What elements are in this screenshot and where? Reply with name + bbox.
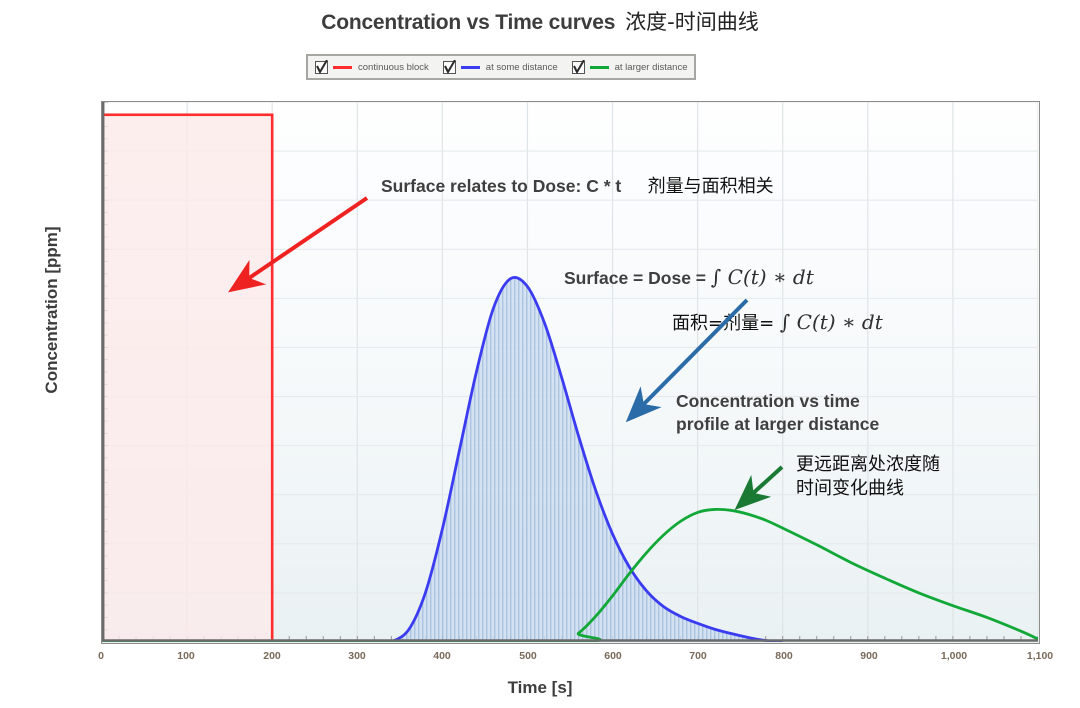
checkbox-checked-icon[interactable]: [315, 61, 328, 74]
legend-swatch-blue: [461, 66, 480, 69]
annotation-integral-en-math: ∫ C(t) ∗ dt: [711, 265, 814, 289]
chart-title-zh: 浓度-时间曲线: [625, 10, 759, 34]
annotation-integral-zh: 面积=剂量= ∫ C(t) ∗ dt: [672, 309, 883, 335]
legend-label-at-some-distance: at some distance: [486, 62, 558, 73]
x-tick-label: 0: [71, 650, 131, 662]
annotation-larger-distance-zh-line2: 时间变化曲线: [796, 477, 1046, 501]
x-tick-label: 700: [668, 650, 728, 662]
x-tick-label: 900: [839, 650, 899, 662]
legend-swatch-red: [333, 66, 352, 69]
annotation-integral-en: Surface = Dose = ∫ C(t) ∗ dt: [564, 265, 814, 289]
annotation-integral-en-prefix: Surface = Dose =: [564, 268, 711, 288]
annotation-integral-zh-prefix: 面积=剂量=: [672, 313, 780, 334]
x-tick-label: 1,100: [1010, 650, 1070, 662]
x-tick-label: 200: [242, 650, 302, 662]
plot-area: Surface relates to Dose: C * t 剂量与面积相关 S…: [101, 101, 1040, 644]
legend-label-continuous-block: continuous block: [358, 62, 429, 73]
chart-title: Concentration vs Time curves浓度-时间曲线: [0, 6, 1080, 36]
chart-title-en: Concentration vs Time curves: [321, 11, 615, 34]
annotation-integral-zh-math: ∫ C(t) ∗ dt: [780, 310, 883, 334]
annotation-dose-surface-en: Surface relates to Dose: C * t: [381, 176, 621, 196]
y-axis-label: Concentration [ppm]: [42, 200, 62, 420]
checkbox-checked-icon[interactable]: [443, 61, 456, 74]
annotation-dose-surface-zh: 剂量与面积相关: [648, 176, 774, 197]
x-tick-label: 400: [412, 650, 472, 662]
chart-legend[interactable]: continuous block at some distance at lar…: [306, 54, 696, 80]
annotation-larger-distance-en-line1: Concentration vs time: [676, 390, 946, 413]
x-tick-label: 100: [156, 650, 216, 662]
legend-entry-at-some-distance[interactable]: at some distance: [443, 61, 558, 74]
x-tick-label: 800: [754, 650, 814, 662]
annotation-larger-distance-zh: 更远距离处浓度随 时间变化曲线: [796, 453, 1046, 502]
series-continuous-block: [102, 115, 272, 642]
checkbox-checked-icon[interactable]: [572, 61, 585, 74]
x-tick-label: 500: [498, 650, 558, 662]
x-tick-label: 600: [583, 650, 643, 662]
x-axis-label: Time [s]: [0, 678, 1080, 698]
annotation-dose-surface: Surface relates to Dose: C * t 剂量与面积相关: [381, 172, 774, 198]
annotation-larger-distance-en-line2: profile at larger distance: [676, 413, 946, 436]
concentration-time-chart: Concentration vs Time curves浓度-时间曲线 cont…: [0, 0, 1080, 708]
x-tick-label: 300: [327, 650, 387, 662]
legend-entry-continuous-block[interactable]: continuous block: [315, 61, 429, 74]
annotation-larger-distance-zh-line1: 更远距离处浓度随: [796, 453, 1046, 477]
annotation-larger-distance-en: Concentration vs time profile at larger …: [676, 390, 946, 436]
legend-label-at-larger-distance: at larger distance: [615, 62, 688, 73]
legend-entry-at-larger-distance[interactable]: at larger distance: [572, 61, 688, 74]
x-tick-label: 1,000: [924, 650, 984, 662]
legend-swatch-green: [590, 66, 609, 69]
